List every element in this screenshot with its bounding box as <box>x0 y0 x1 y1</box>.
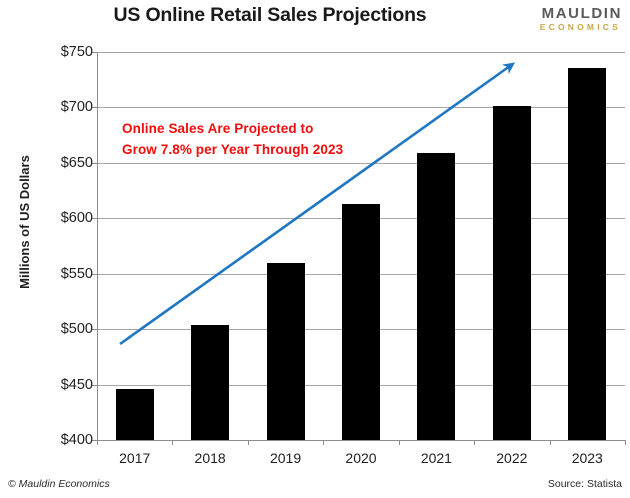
footer-source: Source: Statista <box>548 478 622 490</box>
x-axis-tick-label: 2021 <box>399 450 474 466</box>
x-axis-tick <box>248 440 249 445</box>
y-axis-tick-label: $450 <box>33 377 93 393</box>
y-axis-tick-label: $400 <box>33 432 93 448</box>
x-axis-tick <box>625 440 626 445</box>
chart-annotation: Online Sales Are Projected to Grow 7.8% … <box>122 118 343 160</box>
x-axis-tick-label: 2023 <box>550 450 625 466</box>
x-axis-tick <box>172 440 173 445</box>
x-axis-tick <box>399 440 400 445</box>
y-axis-line <box>97 52 98 440</box>
x-axis-line <box>97 440 625 441</box>
bar <box>116 389 154 440</box>
bar <box>568 68 606 440</box>
y-axis-tick-label: $550 <box>33 266 93 282</box>
bar <box>191 325 229 440</box>
x-axis-tick-label: 2017 <box>97 450 172 466</box>
bar <box>493 106 531 440</box>
bar <box>342 204 380 440</box>
x-axis-tick <box>474 440 475 445</box>
gridline <box>97 163 625 164</box>
bar <box>417 153 455 440</box>
y-axis-tick-label: $600 <box>33 210 93 226</box>
footer-copyright: © Mauldin Economics <box>8 478 110 490</box>
y-axis-tick-label: $750 <box>33 44 93 60</box>
bar <box>267 263 305 440</box>
x-axis-tick-label: 2019 <box>248 450 323 466</box>
x-axis-tick <box>323 440 324 445</box>
gridline <box>97 52 625 53</box>
chart-page: US Online Retail Sales Projections MAULD… <box>0 0 630 498</box>
x-axis-tick-label: 2022 <box>474 450 549 466</box>
y-axis-tick-label: $500 <box>33 321 93 337</box>
gridline <box>97 107 625 108</box>
y-axis-tick-label: $700 <box>33 99 93 115</box>
plot-area: $400$450$500$550$600$650$700$75020172018… <box>0 0 630 498</box>
y-axis-tick-label: $650 <box>33 155 93 171</box>
x-axis-tick-label: 2018 <box>172 450 247 466</box>
x-axis-tick <box>550 440 551 445</box>
x-axis-tick-label: 2020 <box>323 450 398 466</box>
x-axis-tick <box>97 440 98 445</box>
